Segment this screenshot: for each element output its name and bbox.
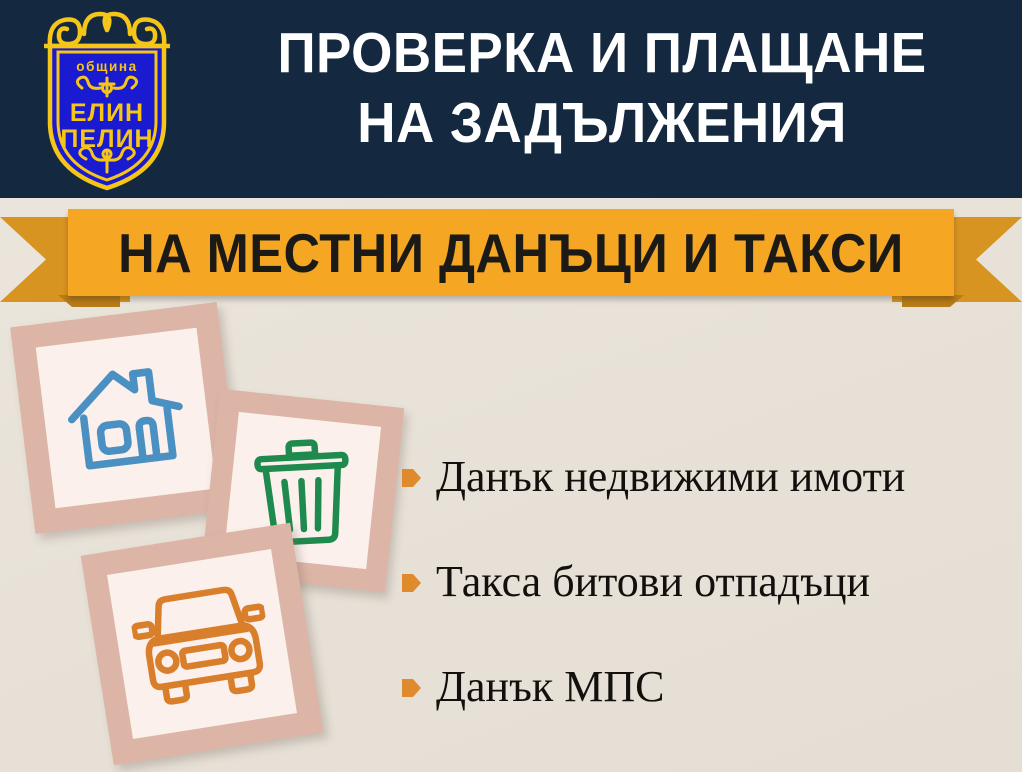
ribbon-fold-right xyxy=(902,295,964,307)
stamp-paper xyxy=(36,328,217,509)
header-bar: община ЕЛИН ПЕЛИН xyxy=(0,0,1022,198)
list-item-label: Данък МПС xyxy=(436,662,664,712)
list-item-label: Данък недвижими имоти xyxy=(436,452,905,502)
stamp-paper xyxy=(107,549,297,739)
arrow-bullet-icon xyxy=(402,677,421,699)
ribbon-label: НА МЕСТНИ ДАНЪЦИ И ТАКСИ xyxy=(118,224,904,282)
page-title: ПРОВЕРКА И ПЛАЩАНЕ НА ЗАДЪЛЖЕНИЯ xyxy=(196,18,1008,158)
house-icon xyxy=(60,356,193,480)
coat-of-arms-icon: община ЕЛИН ПЕЛИН xyxy=(22,4,192,194)
arrow-bullet-icon xyxy=(402,572,421,594)
logo-text-elin: ЕЛИН xyxy=(70,99,144,127)
ribbon-fold-left xyxy=(58,295,120,307)
subtitle-ribbon: НА МЕСТНИ ДАНЪЦИ И ТАКСИ xyxy=(0,199,1022,309)
list-item[interactable]: Данък недвижими имоти xyxy=(402,424,1012,529)
list-item[interactable]: Такса битови отпадъци xyxy=(402,529,1012,634)
title-line-1: ПРОВЕРКА И ПЛАЩАНЕ xyxy=(224,18,979,88)
car-icon xyxy=(127,576,277,712)
list-item-label: Такса битови отпадъци xyxy=(436,557,870,607)
municipality-logo: община ЕЛИН ПЕЛИН xyxy=(22,4,192,194)
logo-text-obshtina: община xyxy=(76,59,138,74)
ribbon-banner: НА МЕСТНИ ДАНЪЦИ И ТАКСИ xyxy=(68,209,954,296)
stamp-card-property xyxy=(10,302,242,534)
arrow-bullet-icon xyxy=(402,467,421,489)
poster-canvas: община ЕЛИН ПЕЛИН xyxy=(0,0,1022,772)
title-line-2: НА ЗАДЪЛЖЕНИЯ xyxy=(224,88,979,158)
tax-types-list: Данък недвижими имоти Такса битови отпад… xyxy=(402,424,1012,739)
stamp-card-vehicle xyxy=(81,523,324,766)
list-item[interactable]: Данък МПС xyxy=(402,634,1012,739)
